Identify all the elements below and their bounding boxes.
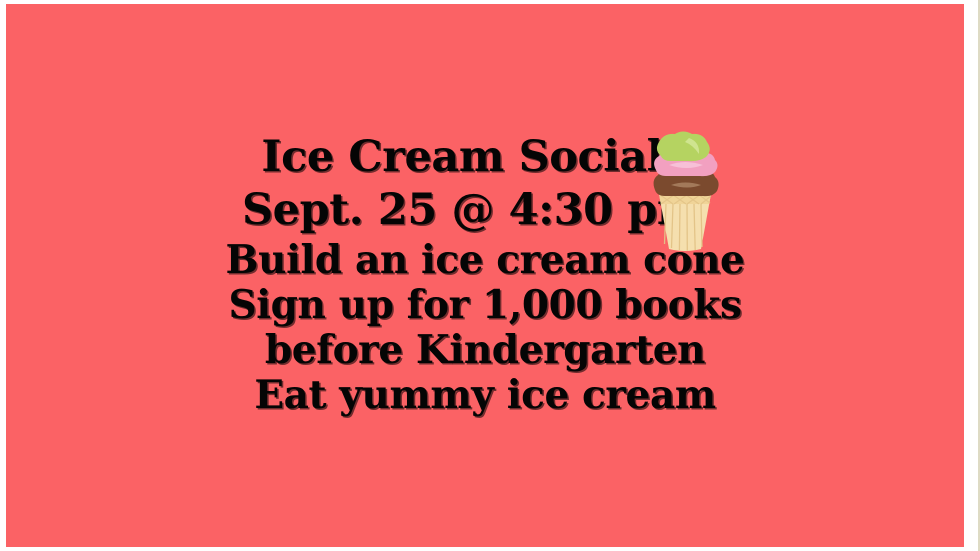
poster-body-line-3: before Kindergarten [265, 331, 705, 370]
cone-shape [659, 194, 711, 251]
poster-text-block: Ice Cream Social Sept. 25 @ 4:30 pm Buil… [6, 4, 964, 547]
ice-cream-cone-icon [643, 130, 727, 252]
poster-body-line-2: Sign up for 1,000 books [228, 286, 741, 325]
poster-title: Ice Cream Social [261, 136, 708, 179]
pistachio-scoop [657, 132, 710, 162]
slide-canvas: Ice Cream Social Sept. 25 @ 4:30 pm Buil… [0, 0, 980, 551]
poster-body-line-4: Eat yummy ice cream [254, 376, 715, 415]
poster-panel: Ice Cream Social Sept. 25 @ 4:30 pm Buil… [6, 4, 964, 547]
